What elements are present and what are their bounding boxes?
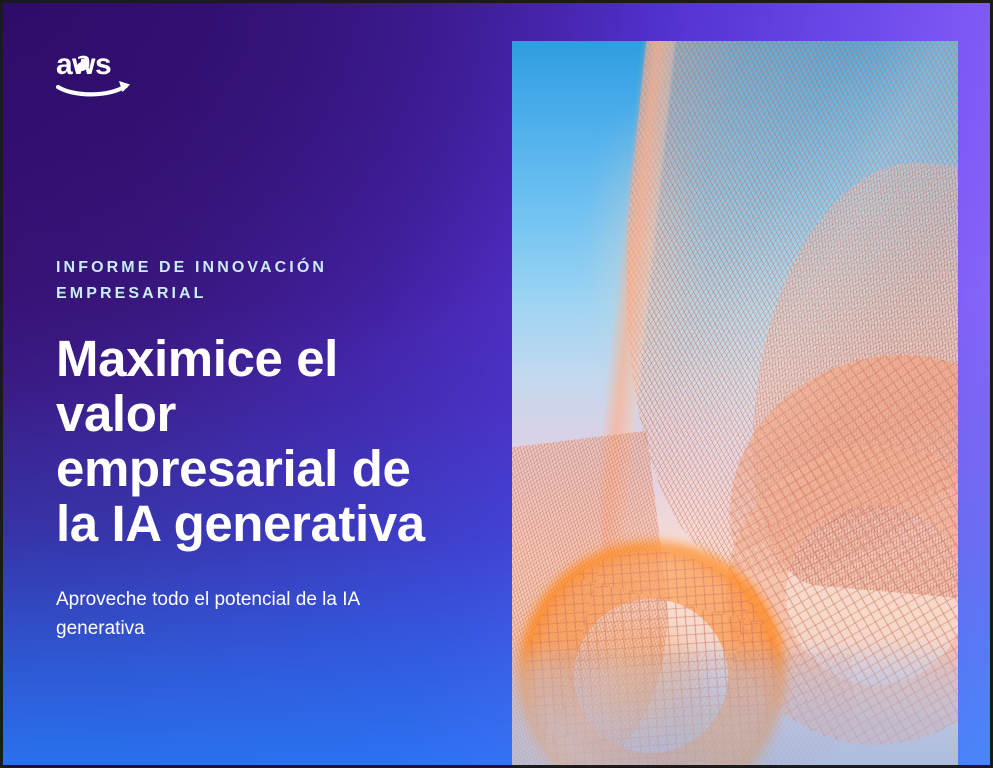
hero-image bbox=[512, 41, 958, 768]
document-page: aws INFORME DE INNOVACIÓN EMPRESARIAL Ma… bbox=[0, 0, 993, 768]
aws-logo: aws bbox=[56, 47, 146, 99]
report-category-eyebrow: INFORME DE INNOVACIÓN EMPRESARIAL bbox=[56, 255, 476, 307]
cover-copy-block: INFORME DE INNOVACIÓN EMPRESARIAL Maximi… bbox=[56, 255, 476, 643]
hero-sheen bbox=[512, 41, 958, 768]
page-title: Maximice el valor empresarial de la IA g… bbox=[56, 331, 456, 551]
page-subtitle: Aproveche todo el potencial de la IA gen… bbox=[56, 585, 406, 643]
svg-text:aws: aws bbox=[56, 48, 111, 81]
